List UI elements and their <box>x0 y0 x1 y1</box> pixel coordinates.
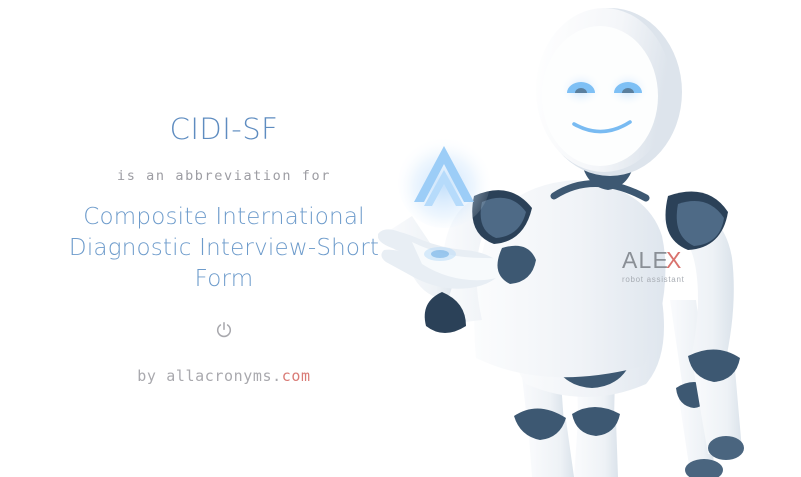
attribution-tld: com <box>282 367 311 385</box>
acronym-expansion: Composite International Diagnostic Inter… <box>59 202 389 295</box>
abbreviation-label: is an abbreviation for <box>117 168 331 184</box>
robot-name-accent: X <box>666 247 683 273</box>
power-icon <box>215 321 233 339</box>
robot-tagline: robot assistant <box>622 275 685 284</box>
acronym-definition-page: CIDI-SF is an abbreviation for Composite… <box>0 0 801 477</box>
acronym-title: CIDI-SF <box>170 112 279 146</box>
attribution-prefix: by <box>137 367 156 385</box>
robot-head <box>536 8 682 176</box>
robot-illustration: ALE X robot assistant <box>378 0 801 477</box>
attribution[interactable]: by allacronyms.com <box>137 367 310 385</box>
robot-chest-branding: ALE X robot assistant <box>622 247 685 284</box>
attribution-brand: allacronyms. <box>166 367 282 385</box>
robot-name-prefix: ALE <box>622 247 669 273</box>
chevron-up-glow-icon <box>398 136 490 228</box>
